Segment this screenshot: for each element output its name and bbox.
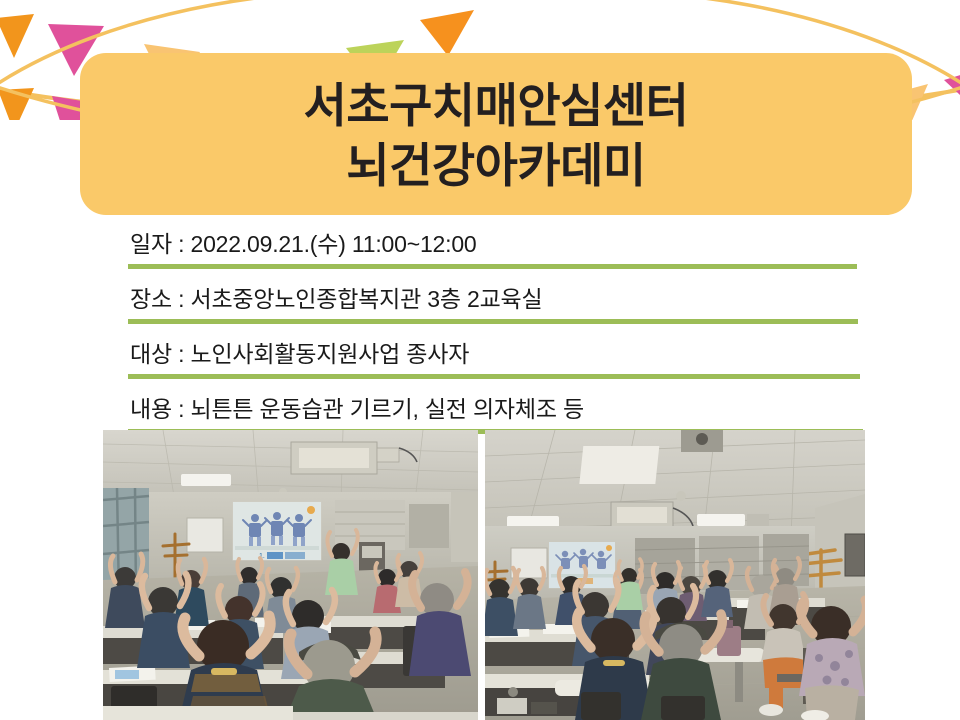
- info-row-content-text: 내용 : 뇌튼튼 운동습관 기르기, 실전 의자체조 등: [130, 392, 584, 426]
- title-line-2: 뇌건강아카데미: [346, 136, 645, 196]
- info-block: 일자 : 2022.09.21.(수) 11:00~12:00 장소 : 서초중…: [128, 224, 864, 444]
- info-row-place-rule: [128, 319, 858, 324]
- info-row-date: 일자 : 2022.09.21.(수) 11:00~12:00: [128, 224, 864, 279]
- photo-strip: 1.: [103, 430, 865, 720]
- photo-classroom-side: [485, 430, 865, 720]
- info-row-audience-rule: [128, 374, 860, 379]
- title-card: 서초구치매안심센터 뇌건강아카데미: [80, 53, 912, 215]
- info-row-date-text: 일자 : 2022.09.21.(수) 11:00~12:00: [130, 227, 477, 261]
- poster-root: 서초구치매안심센터 뇌건강아카데미 일자 : 2022.09.21.(수) 11…: [0, 0, 960, 720]
- title-line-1: 서초구치매안심센터: [304, 76, 689, 136]
- info-row-audience-text: 대상 : 노인사회활동지원사업 종사자: [130, 337, 469, 371]
- info-row-audience: 대상 : 노인사회활동지원사업 종사자: [128, 334, 864, 389]
- photo-classroom-front: 1.: [103, 430, 478, 720]
- info-row-place: 장소 : 서초중앙노인종합복지관 3층 2교육실: [128, 279, 864, 334]
- info-row-place-text: 장소 : 서초중앙노인종합복지관 3층 2교육실: [130, 282, 542, 316]
- info-row-date-rule: [128, 264, 857, 269]
